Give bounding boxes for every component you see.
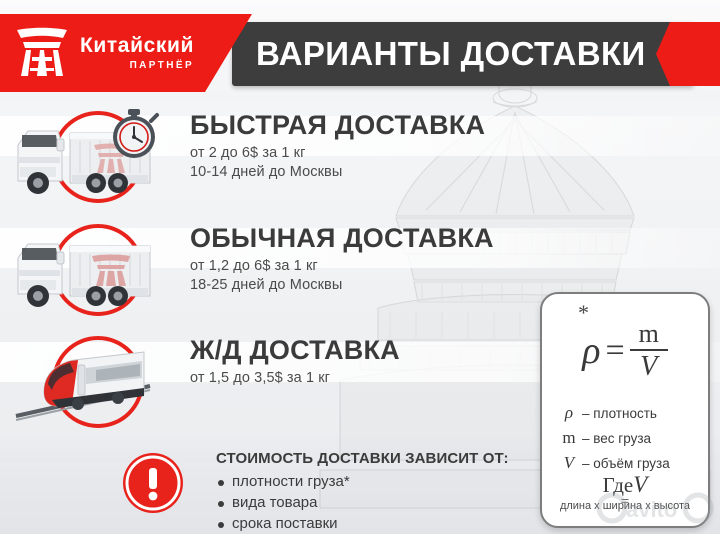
list-item: плотности груза* bbox=[216, 473, 509, 490]
legend-text: – вес груза bbox=[582, 431, 651, 446]
list-item: вида товара bbox=[216, 494, 509, 511]
truck-icon bbox=[0, 218, 190, 318]
formula-rho-symbol: ρ bbox=[582, 329, 600, 373]
legend-row: V – объём груза bbox=[556, 453, 698, 473]
legend-symbol: m bbox=[556, 428, 582, 448]
legend-symbol: ρ bbox=[556, 403, 582, 423]
formula-numerator: m bbox=[633, 321, 665, 349]
truck-stopwatch-icon bbox=[0, 105, 190, 205]
summary-list: плотности груза* вида товара срока поста… bbox=[216, 473, 509, 532]
legend-symbol: V bbox=[556, 453, 582, 473]
delivery-option-price: от 1,2 до 6$ за 1 кг bbox=[190, 258, 494, 274]
delivery-option-rail-text: Ж/Д ДОСТАВКА от 1,5 до 3,5$ за 1 кг bbox=[190, 330, 400, 386]
logo-company-subtitle: ПАРТНЁР bbox=[80, 61, 194, 71]
header-title-banner: ВАРИАНТЫ ДОСТАВКИ bbox=[232, 22, 694, 86]
delivery-option-price: от 2 до 6$ за 1 кг bbox=[190, 145, 485, 161]
delivery-options-poster: ВАРИАНТЫ ДОСТАВКИ Китайский ПАРТНЁР bbox=[0, 0, 720, 534]
delivery-option-title: БЫСТРАЯ ДОСТАВКА bbox=[190, 111, 485, 139]
logo-company-name: Китайский bbox=[80, 35, 194, 56]
volume-formula-expression: длина х ширина х высота bbox=[542, 500, 708, 512]
company-logo[interactable]: Китайский ПАРТНЁР bbox=[14, 26, 194, 80]
density-formula-card: * ρ = m V ρ – плотность m – вес груза V … bbox=[540, 292, 710, 528]
summary-title: СТОИМОСТЬ ДОСТАВКИ ЗАВИСИТ ОТ: bbox=[216, 450, 509, 467]
delivery-option-title: ОБЫЧНАЯ ДОСТАВКА bbox=[190, 224, 494, 252]
delivery-option-duration: 10-14 дней до Москвы bbox=[190, 164, 485, 180]
delivery-option-fast[interactable]: БЫСТРАЯ ДОСТАВКА от 2 до 6$ за 1 кг 10-1… bbox=[0, 105, 560, 205]
formula-legend: ρ – плотность m – вес груза V – объём гр… bbox=[556, 398, 698, 473]
delivery-option-rail[interactable]: Ж/Д ДОСТАВКА от 1,5 до 3,5$ за 1 кг bbox=[0, 330, 560, 430]
legend-text: – плотность bbox=[582, 406, 657, 421]
legend-row: m – вес груза bbox=[556, 428, 698, 448]
page-title: ВАРИАНТЫ ДОСТАВКИ bbox=[256, 35, 646, 73]
formula-equals-sign: = bbox=[606, 332, 625, 370]
legend-text: – объём груза bbox=[582, 456, 670, 471]
formula-denominator: V bbox=[640, 351, 657, 381]
list-item: срока поставки bbox=[216, 515, 509, 532]
exclamation-icon bbox=[122, 452, 184, 514]
summary-block: СТОИМОСТЬ ДОСТАВКИ ЗАВИСИТ ОТ: плотности… bbox=[216, 450, 509, 532]
formula-fraction: m V bbox=[630, 321, 668, 381]
delivery-option-regular[interactable]: ОБЫЧНАЯ ДОСТАВКА от 1,2 до 6$ за 1 кг 18… bbox=[0, 218, 560, 318]
train-icon bbox=[0, 330, 190, 430]
delivery-option-price: от 1,5 до 3,5$ за 1 кг bbox=[190, 370, 400, 386]
chinese-gate-icon bbox=[14, 26, 70, 80]
delivery-option-title: Ж/Д ДОСТАВКА bbox=[190, 336, 400, 364]
delivery-option-fast-text: БЫСТРАЯ ДОСТАВКА от 2 до 6$ за 1 кг 10-1… bbox=[190, 105, 485, 180]
delivery-option-regular-text: ОБЫЧНАЯ ДОСТАВКА от 1,2 до 6$ за 1 кг 18… bbox=[190, 218, 494, 293]
density-formula: ρ = m V bbox=[542, 312, 708, 390]
header: ВАРИАНТЫ ДОСТАВКИ Китайский ПАРТНЁР bbox=[0, 14, 720, 92]
delivery-option-duration: 18-25 дней до Москвы bbox=[190, 277, 494, 293]
logo-text: Китайский ПАРТНЁР bbox=[80, 35, 194, 71]
legend-row: ρ – плотность bbox=[556, 403, 698, 423]
